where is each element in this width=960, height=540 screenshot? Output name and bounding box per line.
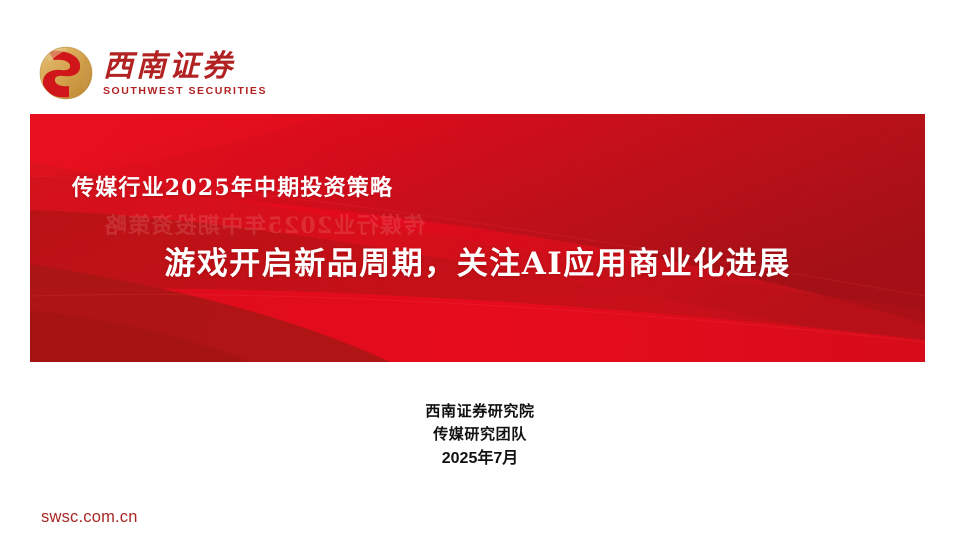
logo-name-en: SOUTHWEST SECURITIES	[103, 85, 267, 97]
title-banner: 传媒行业2025年中期投资策略 传媒行业2025年中期投资策略 游戏开启新品周期…	[30, 114, 925, 362]
banner-text-group: 传媒行业2025年中期投资策略 传媒行业2025年中期投资策略 游戏开启新品周期…	[30, 114, 925, 362]
credit-team: 传媒研究团队	[0, 423, 960, 446]
company-logo: 西南证券 SOUTHWEST SECURITIES	[38, 38, 268, 108]
presentation-cover-slide: 西南证券 SOUTHWEST SECURITIES	[0, 0, 960, 540]
report-headline: 游戏开启新品周期，关注AI应用商业化进展	[30, 238, 925, 283]
credit-institute: 西南证券研究院	[0, 400, 960, 423]
swsc-swirl-logo-icon	[38, 45, 94, 101]
website-url[interactable]: swsc.com.cn	[41, 508, 138, 527]
credits-block: 西南证券研究院 传媒研究团队 2025年7月	[0, 400, 960, 471]
logo-name-cn: 西南证券	[103, 51, 267, 82]
banner-watermark-text: 传媒行业2025年中期投资策略	[104, 208, 425, 240]
credit-date: 2025年7月	[0, 447, 960, 472]
logo-wordmark: 西南证券 SOUTHWEST SECURITIES	[103, 49, 267, 97]
report-subtitle: 传媒行业2025年中期投资策略	[72, 170, 393, 202]
